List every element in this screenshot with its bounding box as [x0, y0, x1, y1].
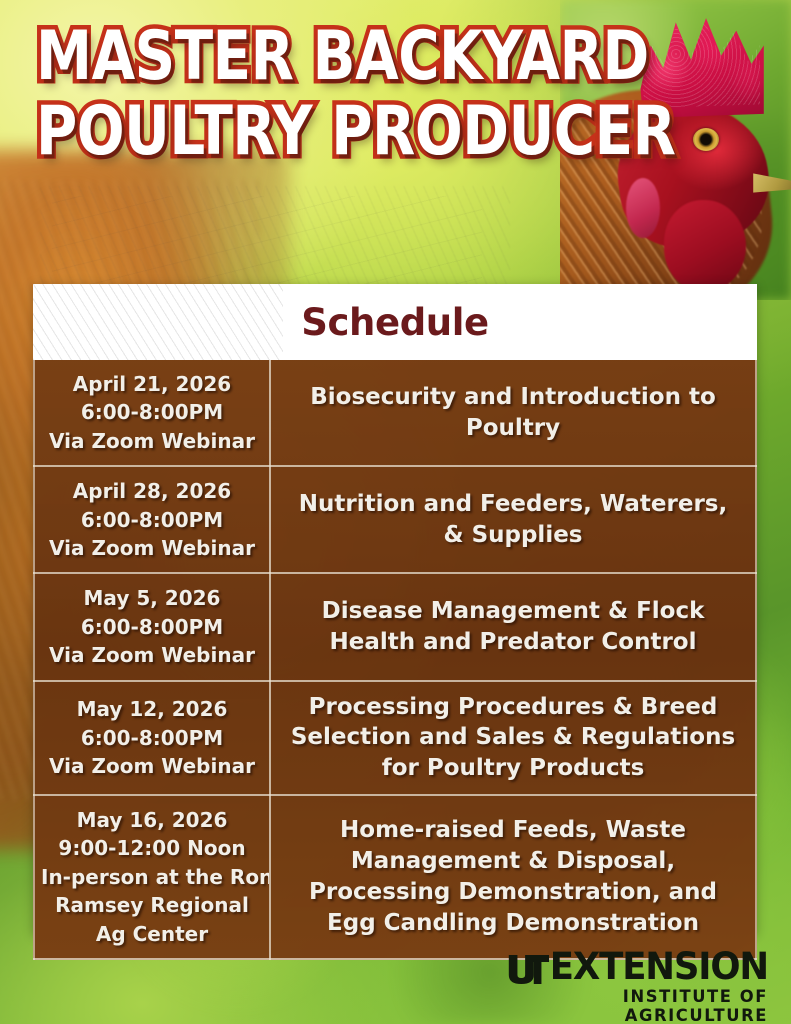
- table-row: May 5, 2026 6:00-8:00PM Via Zoom Webinar…: [34, 573, 756, 680]
- schedule-when-cell: May 5, 2026 6:00-8:00PM Via Zoom Webinar: [34, 573, 270, 680]
- rooster-head-photo: [560, 0, 791, 300]
- schedule-header: Schedule: [33, 284, 757, 360]
- schedule-time: 9:00-12:00 Noon: [41, 834, 263, 862]
- schedule-time: 6:00-8:00PM: [41, 613, 263, 641]
- logo-institute-line: INSTITUTE OF AGRICULTURE: [503, 987, 768, 1024]
- schedule-location: Ag Center: [41, 920, 263, 948]
- ut-extension-logo: EXTENSION INSTITUTE OF AGRICULTURE THE U…: [500, 948, 768, 1010]
- table-row: May 16, 2026 9:00-12:00 Noon In-person a…: [34, 795, 756, 959]
- logo-extension-text: EXTENSION: [550, 948, 768, 985]
- rooster-wattle: [664, 200, 746, 292]
- schedule-topic-cell: Biosecurity and Introduction to Poultry: [270, 360, 756, 466]
- schedule-when-cell: May 16, 2026 9:00-12:00 Noon In-person a…: [34, 795, 270, 959]
- schedule-location: Ramsey Regional: [41, 891, 263, 919]
- schedule-location: Via Zoom Webinar: [41, 641, 263, 669]
- schedule-time: 6:00-8:00PM: [41, 506, 263, 534]
- table-row: April 21, 2026 6:00-8:00PM Via Zoom Webi…: [34, 360, 756, 466]
- schedule-date: May 12, 2026: [41, 695, 263, 723]
- schedule-when-cell: April 21, 2026 6:00-8:00PM Via Zoom Webi…: [34, 360, 270, 466]
- schedule-time: 6:00-8:00PM: [41, 724, 263, 752]
- schedule-card: Schedule April 21, 2026 6:00-8:00PM Via …: [33, 284, 757, 934]
- schedule-location: Via Zoom Webinar: [41, 752, 263, 780]
- schedule-location: Via Zoom Webinar: [41, 427, 263, 455]
- logo-wordmark-row: EXTENSION: [511, 948, 768, 985]
- schedule-when-cell: May 12, 2026 6:00-8:00PM Via Zoom Webina…: [34, 681, 270, 795]
- schedule-time: 6:00-8:00PM: [41, 398, 263, 426]
- schedule-topic-cell: Disease Management & Flock Health and Pr…: [270, 573, 756, 680]
- rooster-earlobe: [626, 178, 660, 238]
- schedule-date: April 28, 2026: [41, 477, 263, 505]
- schedule-table: April 21, 2026 6:00-8:00PM Via Zoom Webi…: [33, 360, 757, 960]
- rooster-eye: [693, 128, 719, 151]
- schedule-header-ghost-artifact: [33, 284, 283, 360]
- poster: MASTER BACKYARD POULTRY PRODUCER Schedul…: [0, 0, 791, 1024]
- schedule-date: May 5, 2026: [41, 584, 263, 612]
- schedule-heading: Schedule: [301, 301, 488, 344]
- ut-monogram-icon: [507, 953, 549, 985]
- table-row: April 28, 2026 6:00-8:00PM Via Zoom Webi…: [34, 466, 756, 573]
- schedule-when-cell: April 28, 2026 6:00-8:00PM Via Zoom Webi…: [34, 466, 270, 573]
- table-row: May 12, 2026 6:00-8:00PM Via Zoom Webina…: [34, 681, 756, 795]
- schedule-topic-cell: Nutrition and Feeders, Waterers, & Suppl…: [270, 466, 756, 573]
- schedule-location: Via Zoom Webinar: [41, 534, 263, 562]
- schedule-topic-cell: Processing Procedures & Breed Selection …: [270, 681, 756, 795]
- schedule-location: In-person at the Ron: [41, 863, 263, 891]
- schedule-topic-cell: Home-raised Feeds, Waste Management & Di…: [270, 795, 756, 959]
- schedule-date: April 21, 2026: [41, 370, 263, 398]
- schedule-date: May 16, 2026: [41, 806, 263, 834]
